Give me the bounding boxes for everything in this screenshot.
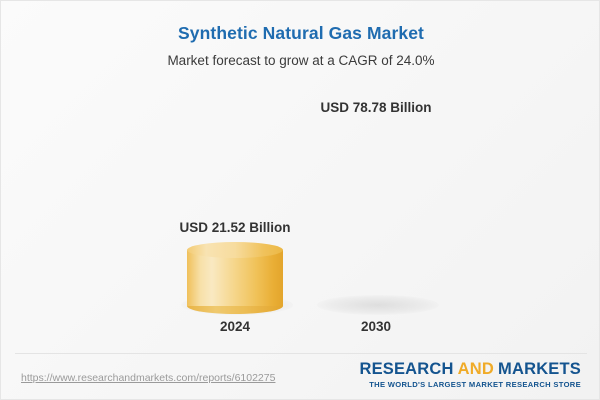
bar-segment-2024-base[interactable] [187, 250, 283, 306]
value-label-2024: USD 21.52 Billion [155, 220, 315, 235]
infographic-card: Synthetic Natural Gas Market Market fore… [0, 0, 600, 400]
chart-plot-area: USD 21.52 Billion 2024 USD 78.78 Billion… [1, 1, 600, 353]
source-url-link[interactable]: https://www.researchandmarkets.com/repor… [21, 372, 275, 384]
cylinder-top-2024 [187, 242, 283, 258]
value-label-2030: USD 78.78 Billion [296, 100, 456, 115]
footer-divider [15, 353, 587, 354]
bar-group-2024[interactable] [187, 250, 283, 306]
logo-word-markets: MARKETS [498, 360, 581, 378]
logo-tagline: THE WORLD'S LARGEST MARKET RESEARCH STOR… [359, 380, 581, 389]
bar-group-2030[interactable] [323, 123, 429, 306]
research-and-markets-logo[interactable]: RESEARCHANDMARKETS THE WORLD'S LARGEST M… [359, 361, 581, 389]
cylinder-body-2024 [187, 250, 283, 306]
logo-wordmark: RESEARCHANDMARKETS [359, 361, 581, 378]
category-label-2030: 2030 [296, 319, 456, 334]
logo-word-research: RESEARCH [359, 360, 453, 378]
logo-word-and: AND [458, 360, 494, 378]
category-label-2024: 2024 [155, 319, 315, 334]
